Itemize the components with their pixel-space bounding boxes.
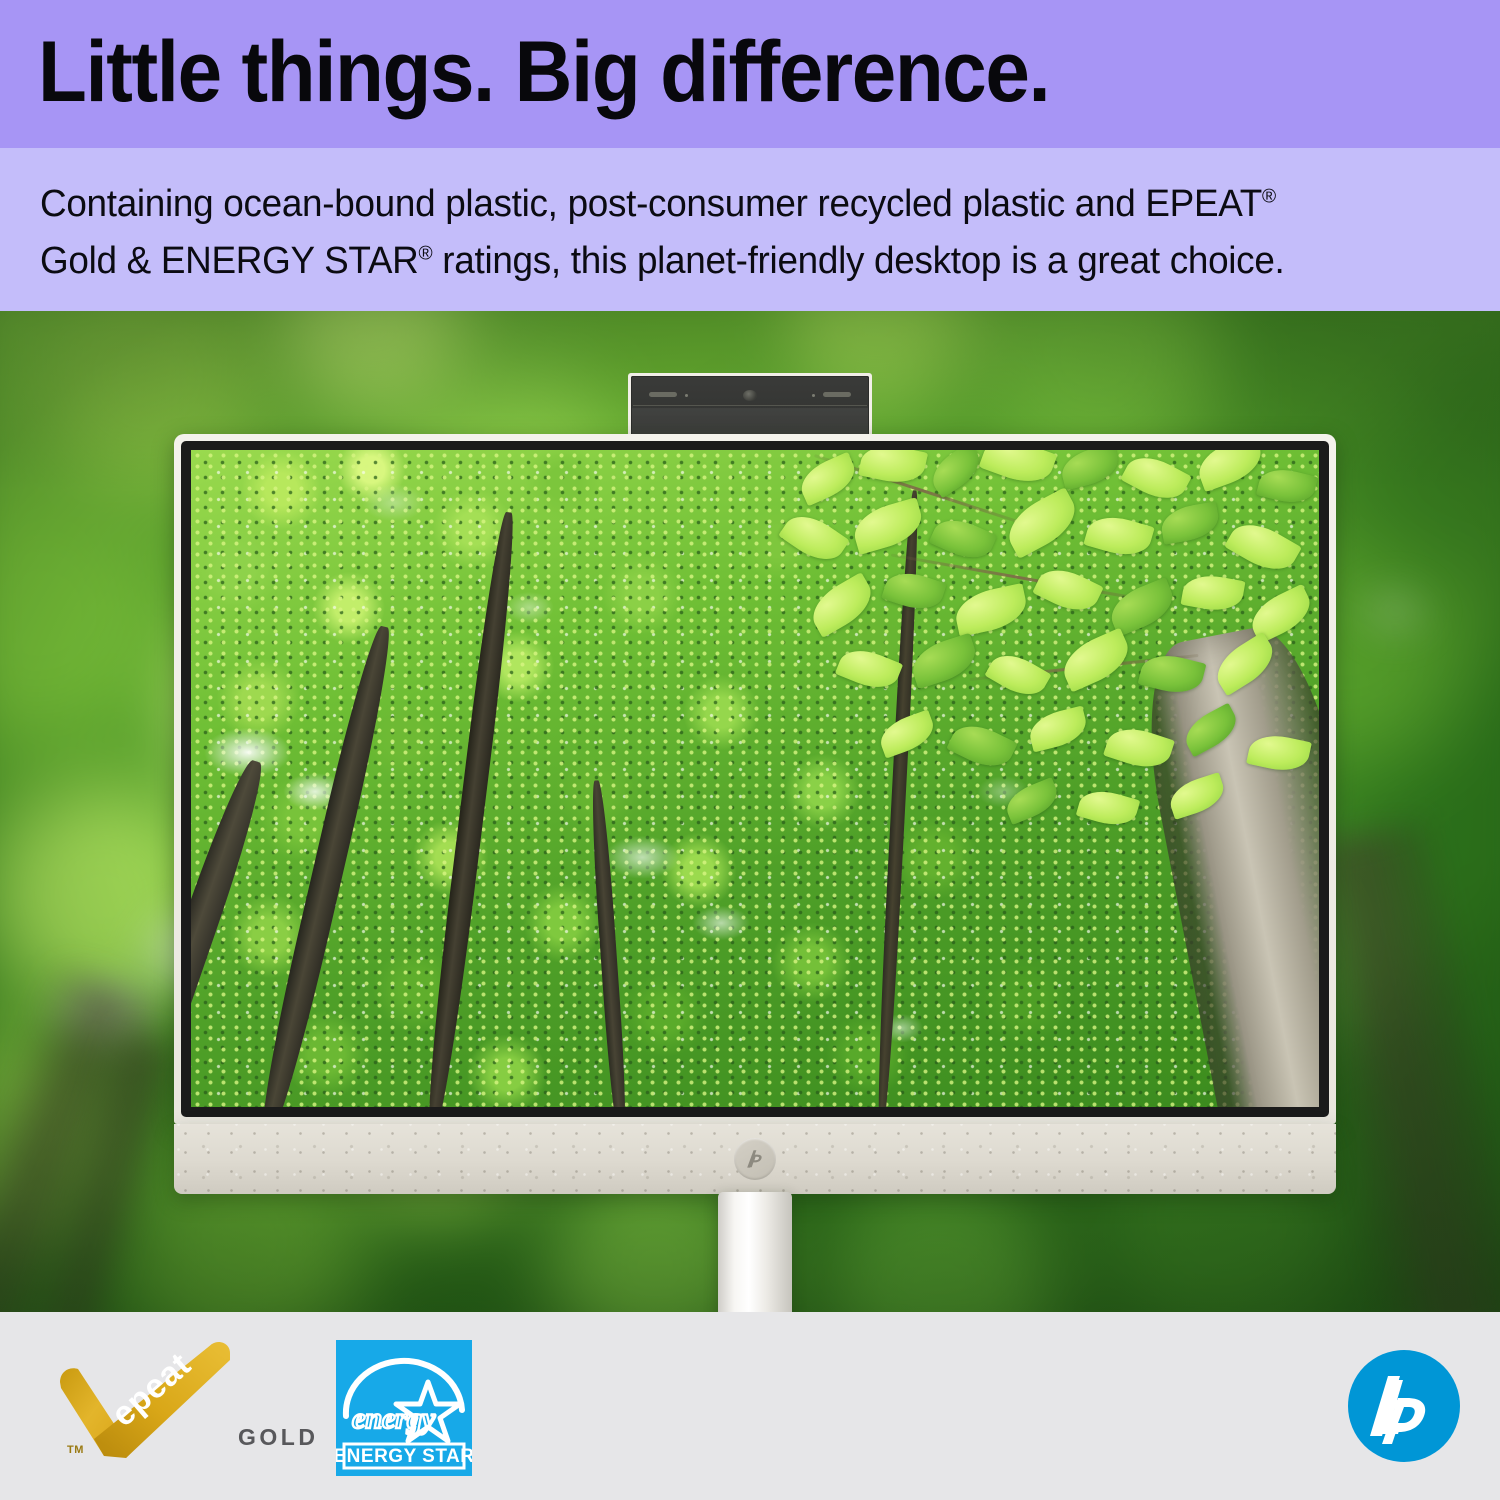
stand-column [718,1192,792,1312]
energy-star-badge: energy ENERGY STAR [336,1340,472,1476]
leaf [1224,514,1302,581]
marketing-image: Little things. Big difference. Containin… [0,0,1500,1500]
display-inner-frame [181,441,1329,1117]
leaf [1256,464,1318,509]
leaf [1208,632,1281,696]
screen-leaf-cluster [769,450,1319,836]
leaf [1192,450,1267,492]
hp-roundel-icon [734,1138,776,1180]
leaf [925,450,988,498]
webcam-indicator-left [685,394,688,397]
leaf [875,709,939,758]
epeat-gold-badge: epeat TM GOLD [52,1338,312,1480]
leaf [1056,627,1136,692]
webcam-vent-left [649,392,677,397]
webcam-seam [633,405,867,406]
leaf [946,716,1018,776]
webcam-vent-right [823,392,851,397]
leaf [984,646,1051,704]
bottom-bezel [174,1124,1336,1194]
registered-mark-epeat: ® [1262,185,1276,207]
epeat-trademark: TM [67,1444,84,1456]
leaf [1103,721,1175,775]
leaf [1058,450,1123,491]
hp-wordmark-icon [1358,1360,1450,1452]
subtext-line2-a: Gold & ENERGY STAR [40,240,419,282]
epeat-tier-label: GOLD [238,1424,318,1451]
leaf [1120,450,1192,508]
leaf [881,566,947,616]
leaf [979,450,1058,491]
leaf [1076,785,1141,832]
popup-webcam [628,373,872,437]
certification-footer: epeat TM GOLD energy ENERGY STAR [0,1312,1500,1500]
camera-lens-icon [743,390,757,401]
leaf [1179,703,1243,758]
energy-script: energy [352,1402,436,1435]
page-title: Little things. Big difference. [38,18,1049,126]
webcam-body [631,376,869,437]
webcam-indicator-right [812,394,815,397]
leaf [795,452,862,507]
leaf [999,487,1084,559]
leaf [835,642,903,696]
subtext: Containing ocean-bound plastic, post-con… [40,176,1417,290]
leaf [1032,560,1104,620]
leaf [1158,501,1221,545]
registered-mark-energystar: ® [419,242,433,264]
leaf [952,583,1031,637]
leaf [1083,510,1154,562]
headline-band: Little things. Big difference. [0,0,1500,148]
leaf [929,511,998,566]
leaf [1165,772,1228,820]
all-in-one-desktop [174,434,1336,1312]
product-photo [0,311,1500,1312]
leaf [804,572,880,638]
leaf [778,506,850,571]
subtext-line2-b: ratings, this planet-friendly desktop is… [432,240,1284,282]
hp-logo [1348,1350,1460,1462]
leaf [849,497,927,555]
energy-star-label: ENERGY STAR [336,1446,472,1467]
subtext-band: Containing ocean-bound plastic, post-con… [0,148,1500,311]
leaf [1026,705,1091,752]
screen [191,450,1319,1107]
leaf [1181,571,1246,615]
subtext-line1: Containing ocean-bound plastic, post-con… [40,183,1262,225]
leaf [1001,777,1062,825]
leaf [1246,730,1312,776]
